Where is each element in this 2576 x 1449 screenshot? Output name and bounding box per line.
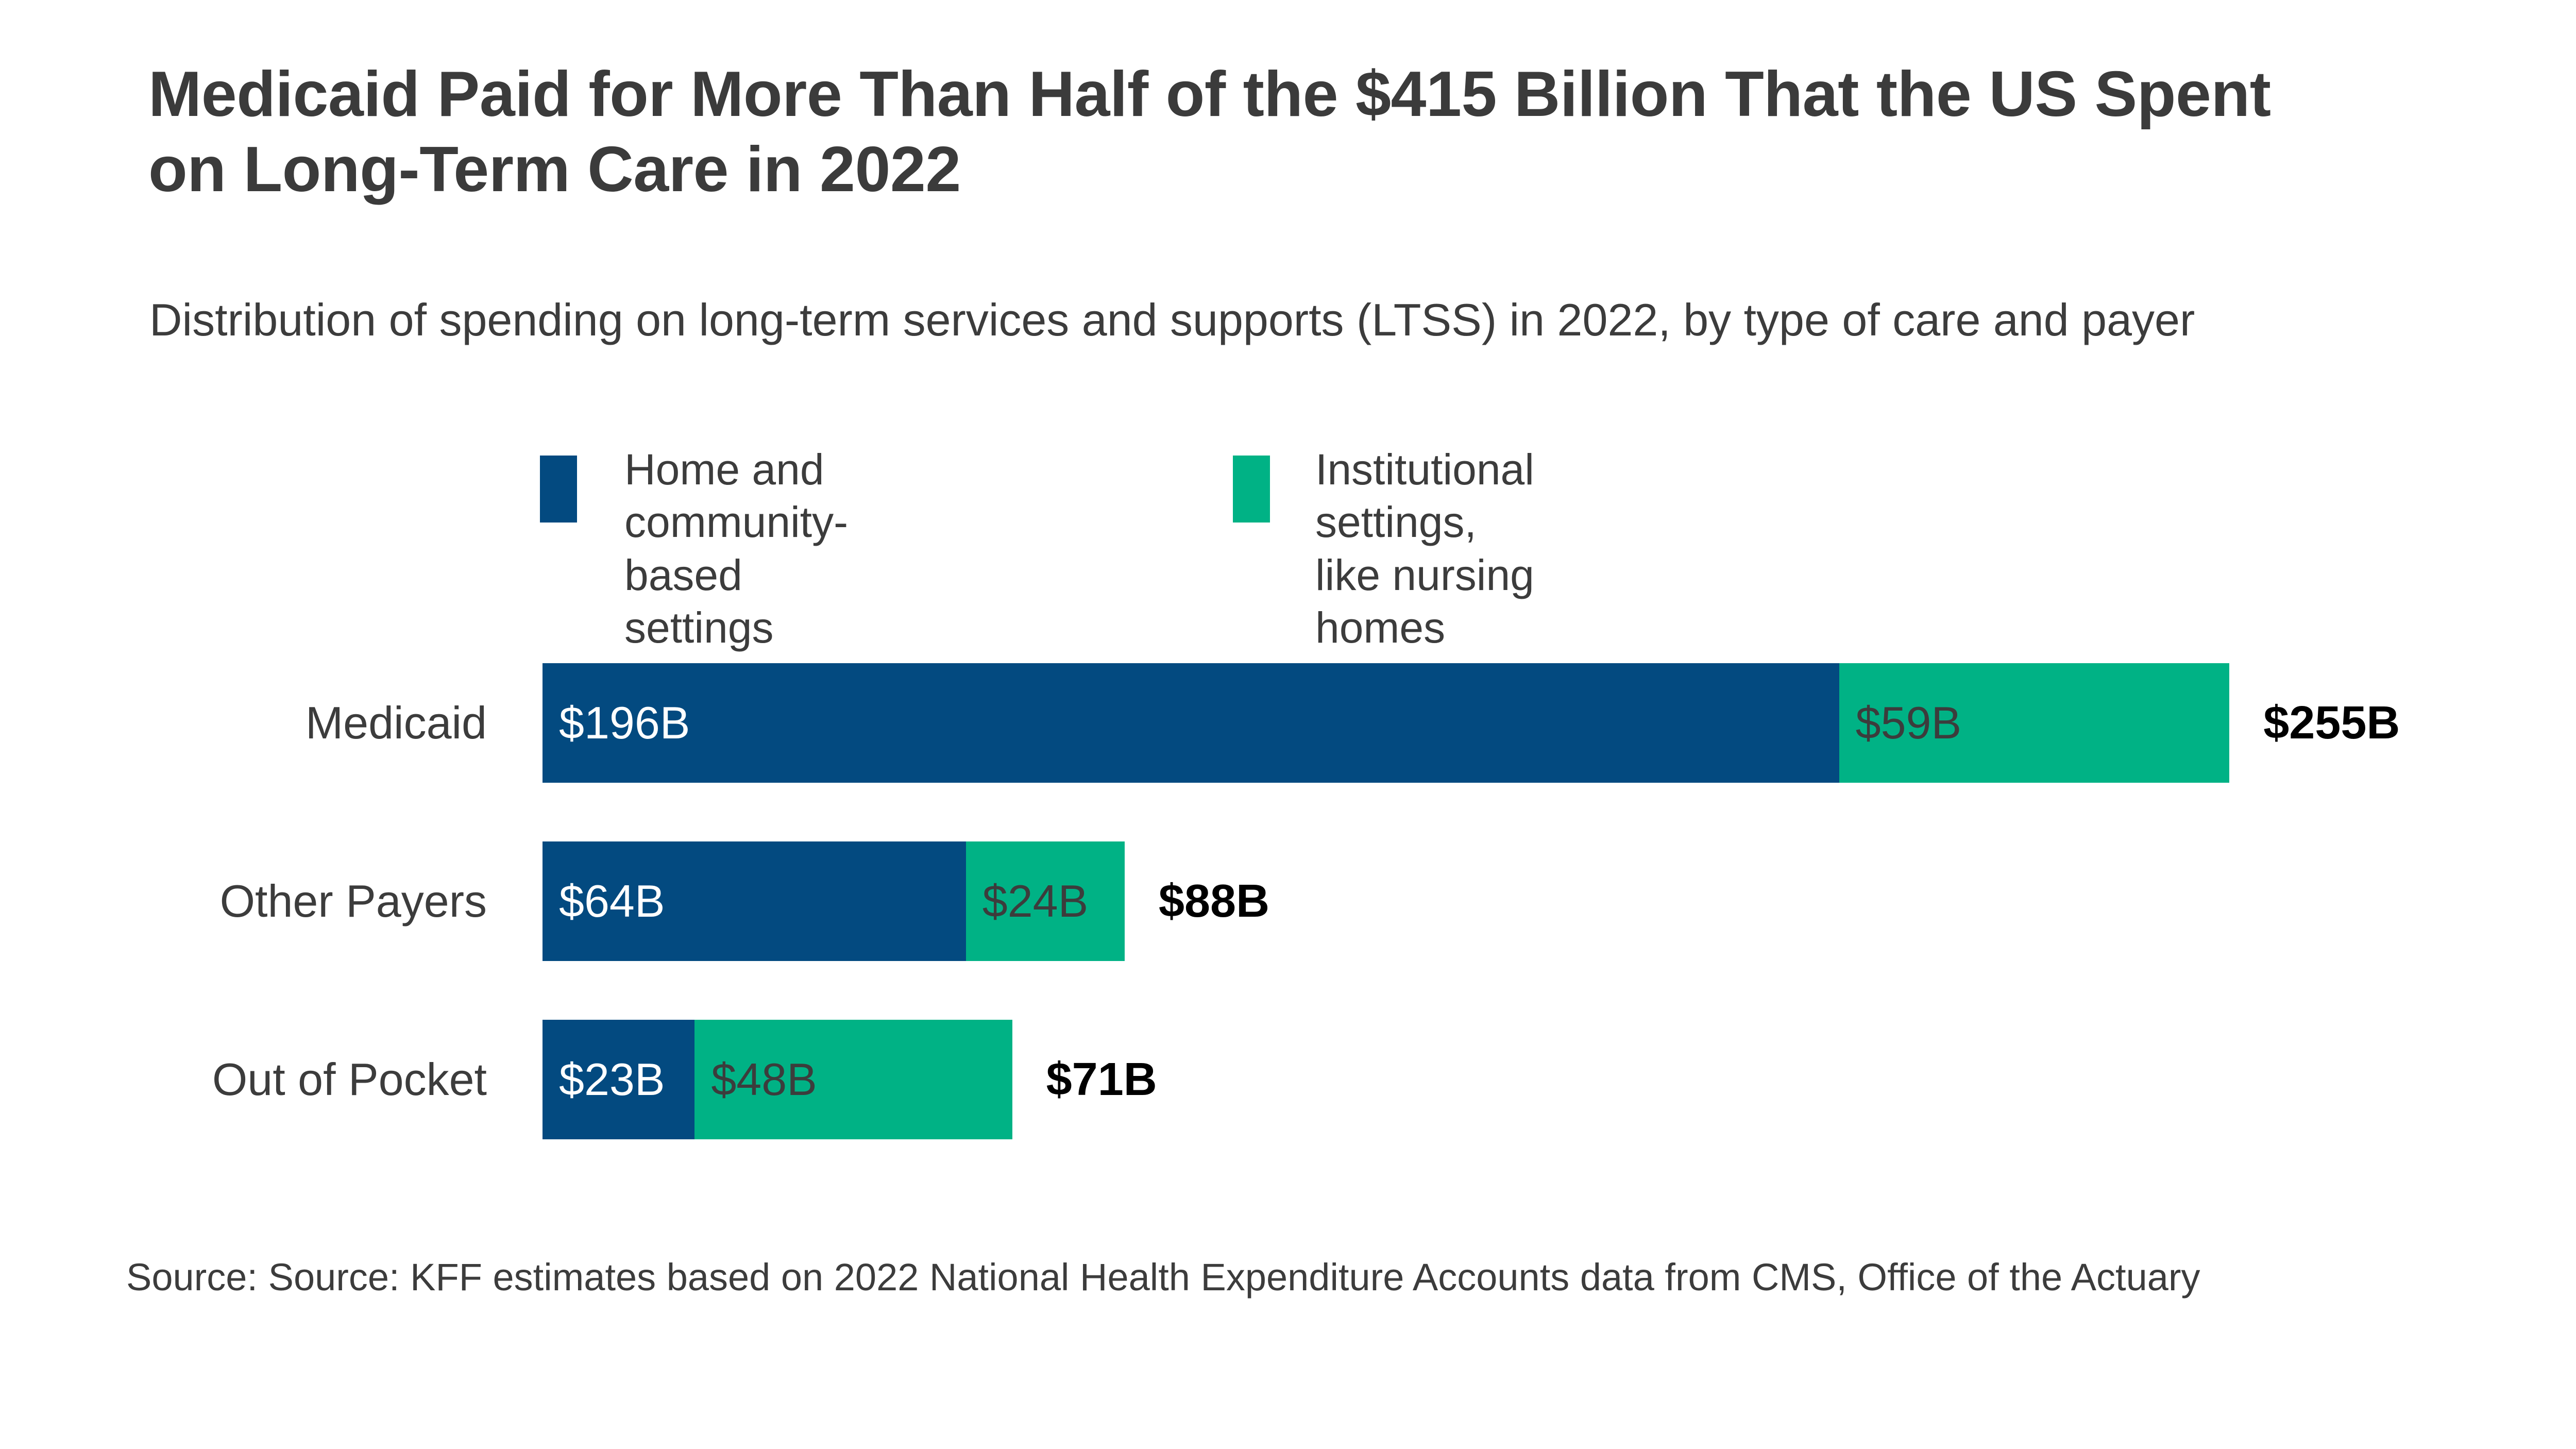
chart-row-out-of-pocket: Out of Pocket $23B $48B $71B: [0, 1020, 2576, 1139]
bar-total-other-payers: $88B: [1125, 841, 1269, 961]
bar-out-of-pocket: $23B $48B: [543, 1020, 1012, 1139]
chart-page: Medicaid Paid for More Than Half of the …: [0, 0, 2576, 1449]
bar-segment-value-other-payers-home-community: $64B: [543, 879, 665, 924]
bar-segment-value-other-payers-institutional: $24B: [966, 879, 1089, 924]
bar-segment-other-payers-home-community[interactable]: $64B: [543, 841, 966, 961]
stacked-bar-chart: Medicaid $196B $59B $255B Other Payers $…: [0, 644, 2576, 1185]
bar-segment-value-medicaid-institutional: $59B: [1839, 700, 1962, 746]
legend-label-home-community: Home and community- based settings: [624, 443, 848, 654]
page-subtitle: Distribution of spending on long-term se…: [149, 291, 2339, 349]
bar-segment-value-out-of-pocket-institutional: $48B: [694, 1057, 817, 1102]
category-label-medicaid: Medicaid: [306, 663, 487, 783]
legend-item-home-community[interactable]: Home and community- based settings: [540, 443, 848, 654]
bar-segment-medicaid-institutional[interactable]: $59B: [1839, 663, 2230, 783]
bar-total-medicaid: $255B: [2229, 663, 2400, 783]
chart-row-medicaid: Medicaid $196B $59B $255B: [0, 663, 2576, 783]
chart-row-other-payers: Other Payers $64B $24B $88B: [0, 841, 2576, 961]
bar-segment-out-of-pocket-home-community[interactable]: $23B: [543, 1020, 694, 1139]
bar-medicaid: $196B $59B: [543, 663, 2229, 783]
source-note: Source: Source: KFF estimates based on 2…: [126, 1250, 2393, 1305]
bar-segment-value-out-of-pocket-home-community: $23B: [543, 1057, 665, 1102]
legend-item-institutional[interactable]: Institutional settings, like nursing hom…: [1233, 443, 1534, 654]
bar-segment-value-medicaid-home-community: $196B: [543, 700, 690, 746]
legend-swatch-institutional: [1233, 456, 1270, 523]
category-label-other-payers: Other Payers: [220, 841, 487, 961]
legend-label-institutional: Institutional settings, like nursing hom…: [1315, 443, 1534, 654]
bar-segment-out-of-pocket-institutional[interactable]: $48B: [694, 1020, 1012, 1139]
page-title: Medicaid Paid for More Than Half of the …: [148, 57, 2338, 208]
bar-segment-other-payers-institutional[interactable]: $24B: [966, 841, 1125, 961]
category-label-out-of-pocket: Out of Pocket: [212, 1020, 487, 1139]
legend-swatch-home-community: [540, 456, 577, 523]
bar-total-out-of-pocket: $71B: [1012, 1020, 1157, 1139]
bar-other-payers: $64B $24B: [543, 841, 1125, 961]
bar-segment-medicaid-home-community[interactable]: $196B: [543, 663, 1839, 783]
